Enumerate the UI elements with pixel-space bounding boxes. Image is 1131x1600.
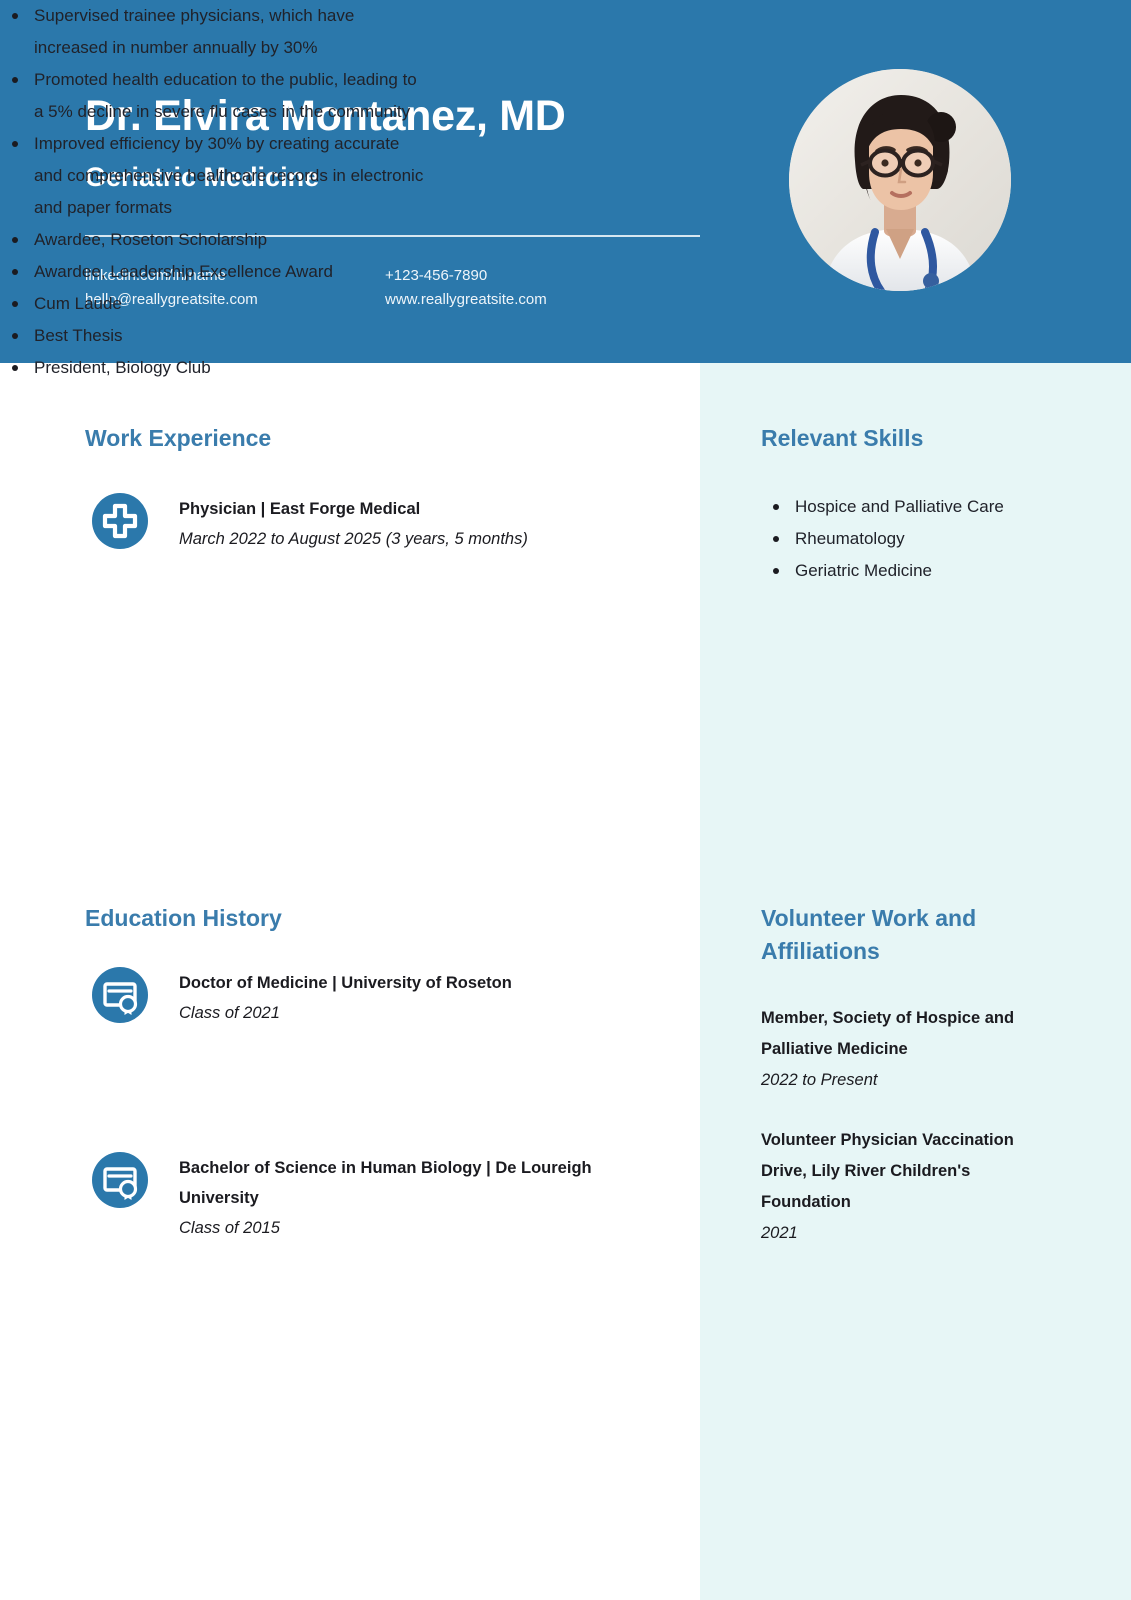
- list-item: Hospice and Palliative Care: [761, 491, 1091, 523]
- list-item: Rheumatology: [761, 523, 1091, 555]
- section-heading-work-experience: Work Experience: [85, 422, 271, 455]
- education-entry: Doctor of Medicine | University of Roset…: [179, 968, 639, 1028]
- list-item: Best Thesis: [0, 320, 420, 352]
- volunteer-item-date: 2022 to Present: [761, 1065, 1061, 1096]
- relevant-skills-list: Hospice and Palliative Care Rheumatology…: [761, 491, 1091, 587]
- section-heading-relevant-skills: Relevant Skills: [761, 422, 923, 455]
- list-item: Awardee, Leadership Excellence Award: [0, 256, 460, 288]
- volunteer-item-name: Member, Society of Hospice and Palliativ…: [761, 1003, 1061, 1065]
- education-entry-bullets: Cum Laude Best Thesis President, Biology…: [0, 288, 420, 384]
- list-item: Cum Laude: [0, 288, 420, 320]
- list-item: Promoted health education to the public,…: [0, 64, 430, 128]
- list-item: President, Biology Club: [0, 352, 420, 384]
- work-entry: Physician | East Forge Medical March 202…: [179, 494, 609, 554]
- volunteer-item-name: Volunteer Physician Vaccination Drive, L…: [761, 1125, 1061, 1218]
- volunteer-item-date: 2021: [761, 1218, 1061, 1249]
- resume-page: Dr. Elvira Montanez, MD Geriatric Medici…: [0, 0, 1131, 1600]
- contact-website[interactable]: www.reallygreatsite.com: [385, 288, 685, 312]
- list-item: Awardee, Roseton Scholarship: [0, 224, 460, 256]
- section-heading-volunteer-work: Volunteer Work and Affiliations: [761, 902, 1051, 968]
- work-entry-title: Physician | East Forge Medical: [179, 494, 609, 524]
- education-entry-title: Doctor of Medicine | University of Roset…: [179, 968, 639, 998]
- section-heading-education-history: Education History: [85, 902, 282, 935]
- diploma-certificate-icon: [92, 967, 148, 1023]
- education-entry-title: Bachelor of Science in Human Biology | D…: [179, 1153, 599, 1213]
- volunteer-work-list: Member, Society of Hospice and Palliativ…: [761, 1003, 1061, 1278]
- list-item: Supervised trainee physicians, which hav…: [0, 0, 430, 64]
- list-item: Member, Society of Hospice and Palliativ…: [761, 1003, 1061, 1096]
- work-entry-date: March 2022 to August 2025 (3 years, 5 mo…: [179, 524, 609, 554]
- list-item: Geriatric Medicine: [761, 555, 1091, 587]
- education-entry-bullets: Awardee, Roseton Scholarship Awardee, Le…: [0, 224, 460, 288]
- work-entry-bullets: Supervised trainee physicians, which hav…: [0, 0, 430, 224]
- list-item: Volunteer Physician Vaccination Drive, L…: [761, 1125, 1061, 1249]
- medical-cross-icon: [92, 493, 148, 549]
- list-item: Improved efficiency by 30% by creating a…: [0, 128, 430, 224]
- education-entry-date: Class of 2021: [179, 998, 639, 1028]
- diploma-certificate-icon: [92, 1152, 148, 1208]
- education-entry-date: Class of 2015: [179, 1213, 599, 1243]
- education-entry: Bachelor of Science in Human Biology | D…: [179, 1153, 599, 1243]
- avatar: [789, 69, 1011, 291]
